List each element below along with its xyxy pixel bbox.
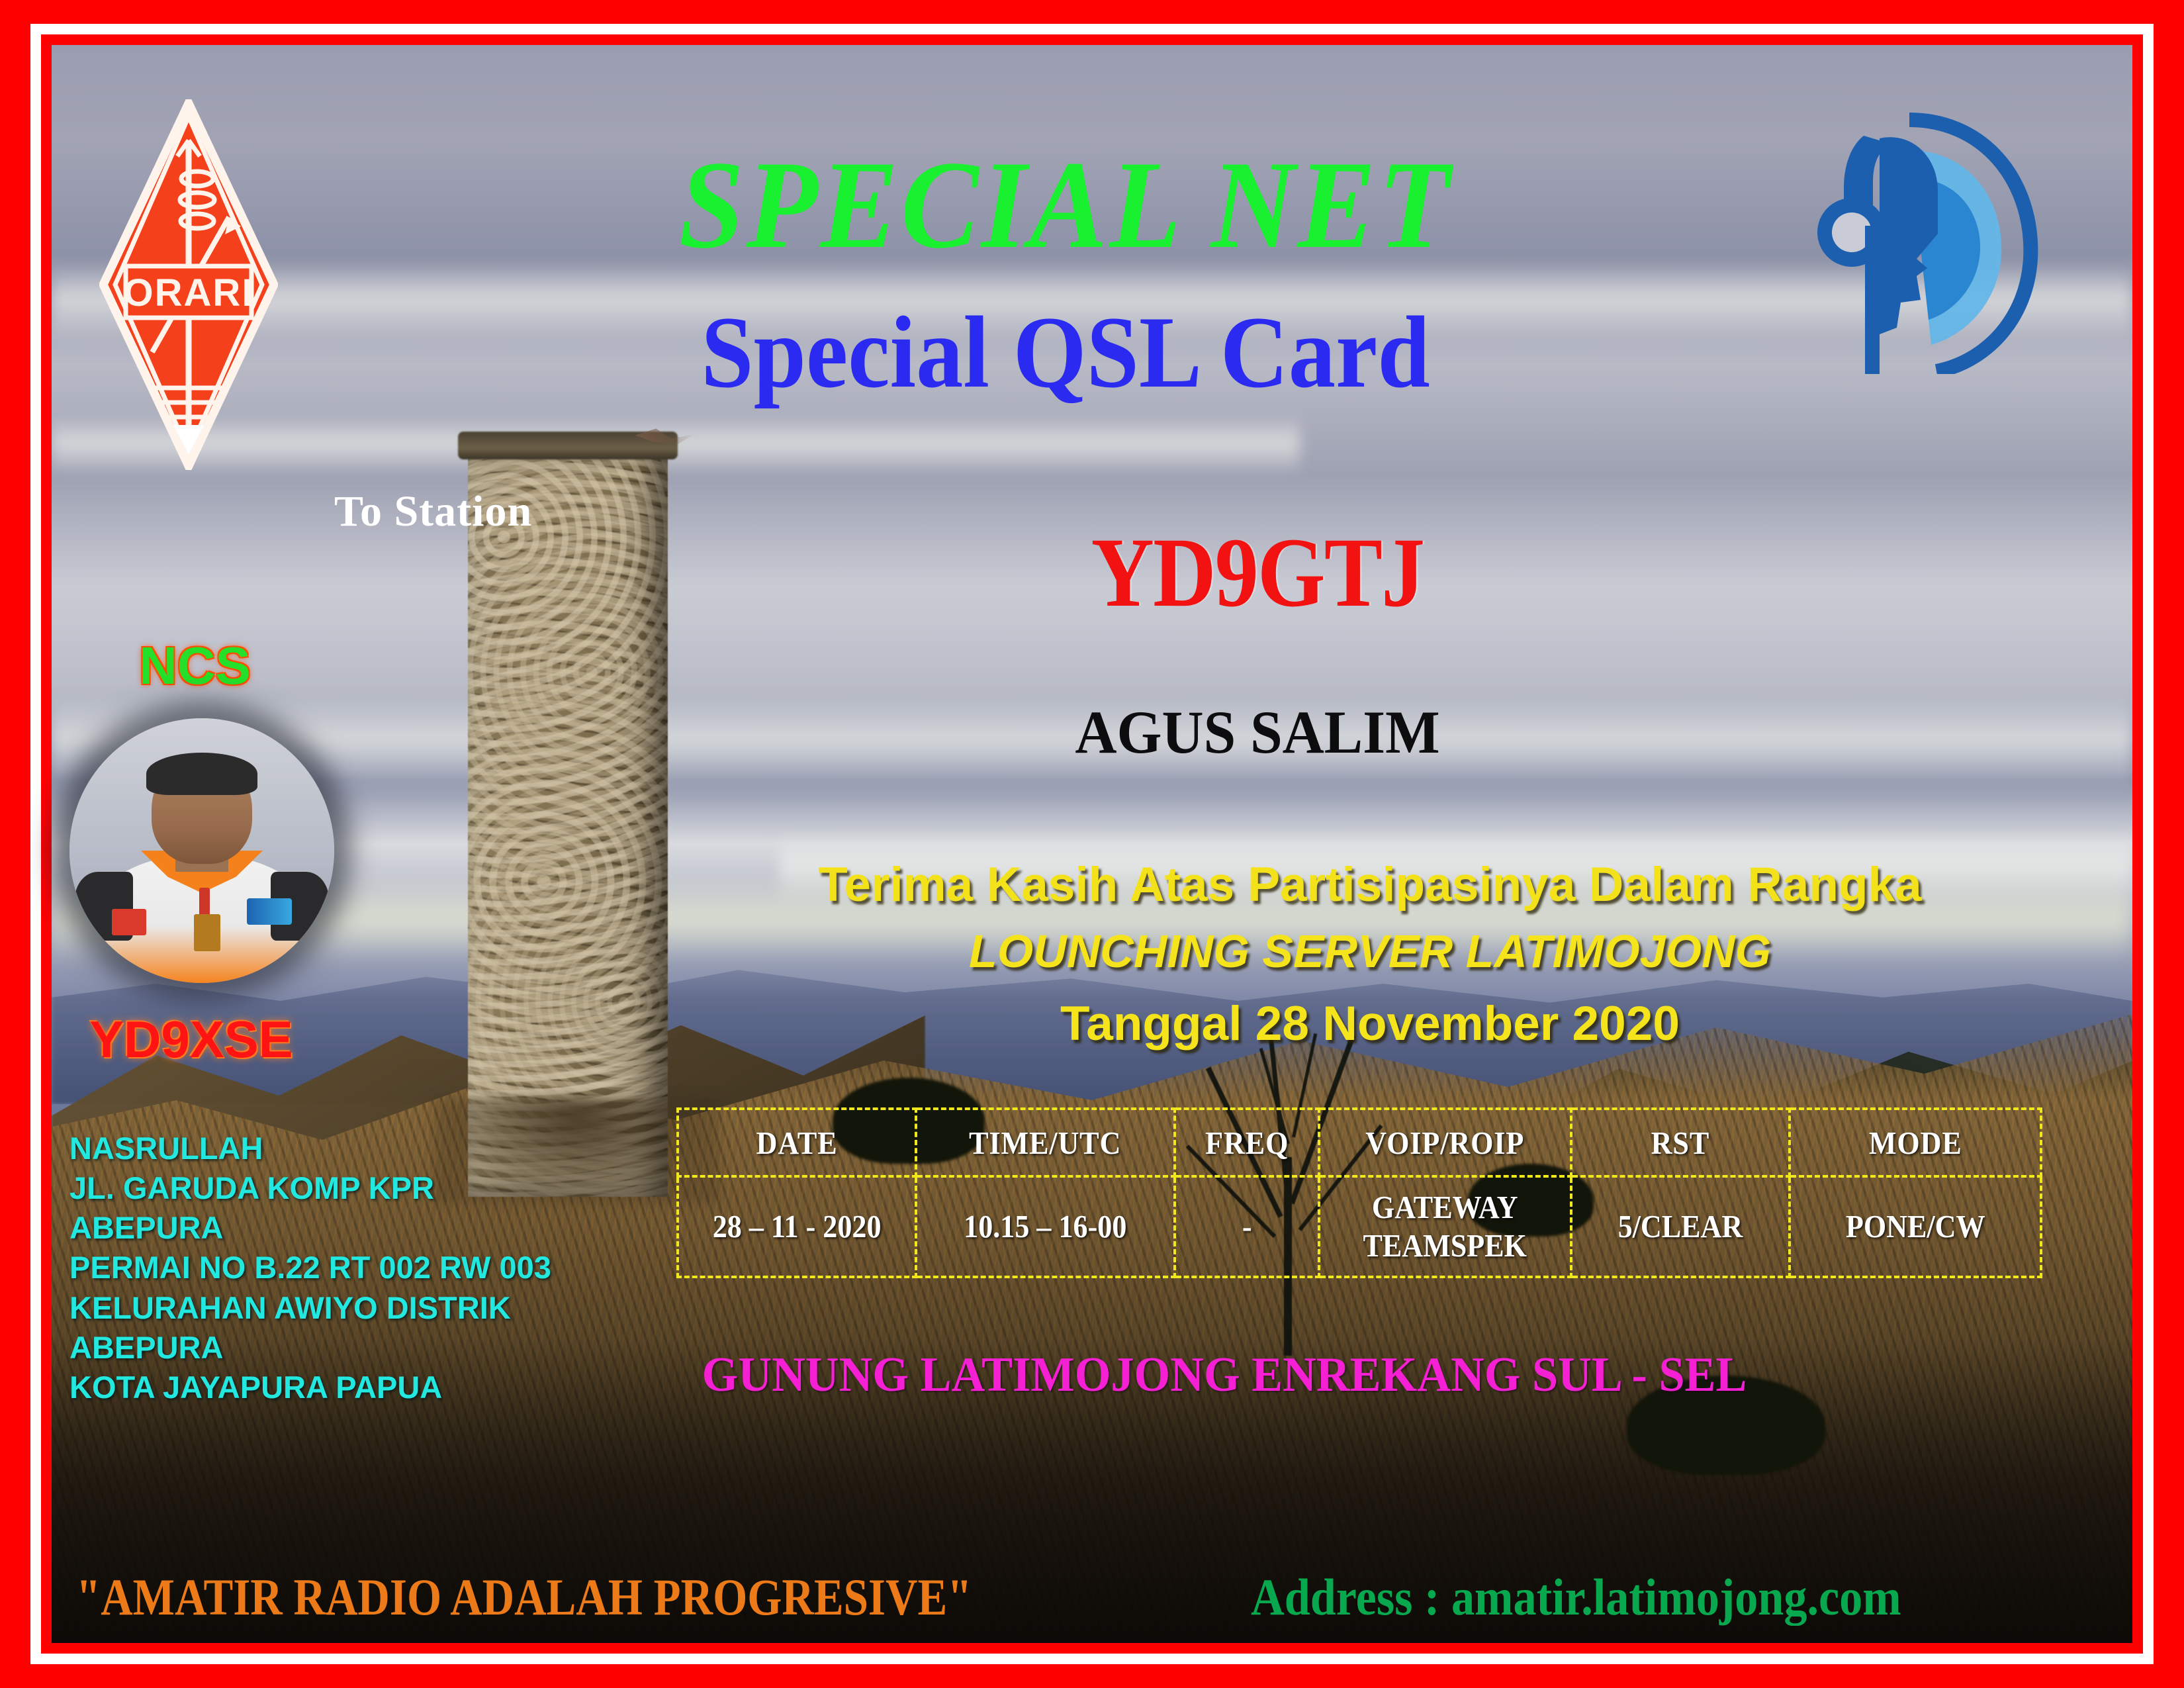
ncs-label: NCS (139, 635, 251, 696)
cell-rst: 5/CLEAR (1582, 1176, 1778, 1277)
column-header-mode: MODE (1802, 1109, 2028, 1176)
event-date: Tanggal 28 November 2020 (702, 1000, 2038, 1048)
ncs-callsign: YD9XSE (89, 1009, 293, 1070)
headphone-radio-face-icon (1780, 109, 2058, 374)
card-content-layer: ORARI SPECIAL NET Special QSL Card To St… (0, 0, 2184, 1688)
recipient-callsign: YD9GTJ (978, 523, 1537, 622)
orari-logo: ORARI (99, 99, 278, 470)
table-row: 28 – 11 - 2020 10.15 – 16-00 - GATEWAY T… (678, 1176, 2041, 1277)
address-line: ABEPURA (69, 1208, 551, 1248)
page-subtitle-qsl-card: Special QSL Card (487, 301, 1644, 404)
qso-log-table: DATE TIME/UTC FREQ VOIP/ROIP RST MODE 28… (676, 1107, 2042, 1278)
column-header-date: DATE (690, 1109, 904, 1176)
ncs-operator-photo (69, 718, 334, 983)
column-header-freq: FREQ (1182, 1109, 1312, 1176)
mailing-address: NASRULLAH JL. GARUDA KOMP KPR ABEPURA PE… (69, 1129, 551, 1407)
address-line: KELURAHAN AWIYO DISTRIK (69, 1288, 551, 1328)
motto-text: "AMATIR RADIO ADALAH PROGRESIVE" (76, 1568, 972, 1627)
thanks-line: Terima Kasih Atas Partisipasinya Dalam R… (702, 861, 2038, 909)
column-header-voip-roip: VOIP/ROIP (1332, 1109, 1558, 1176)
column-header-time: TIME/UTC (929, 1109, 1162, 1176)
qsl-card: ORARI SPECIAL NET Special QSL Card To St… (0, 0, 2184, 1688)
address-line: NASRULLAH (69, 1129, 551, 1168)
to-station-label: To Station (334, 487, 532, 537)
address-line: JL. GARUDA KOMP KPR (69, 1168, 551, 1208)
table-header-row: DATE TIME/UTC FREQ VOIP/ROIP RST MODE (678, 1109, 2041, 1176)
address-line: PERMAI NO B.22 RT 002 RW 003 (69, 1248, 551, 1288)
address-line: KOTA JAYAPURA PAPUA (69, 1368, 551, 1407)
operator-name: AGUS SALIM (956, 702, 1559, 763)
page-title-special-net: SPECIAL NET (481, 142, 1651, 268)
cell-mode: PONE/CW (1802, 1176, 2028, 1277)
location-line: GUNUNG LATIMOJONG ENREKANG SUL - SEL (627, 1350, 1822, 1399)
cell-date: 28 – 11 - 2020 (690, 1176, 904, 1277)
address-line: ABEPURA (69, 1328, 551, 1368)
cell-voip-roip: GATEWAY TEAMSPEK (1332, 1176, 1558, 1277)
cell-time: 10.15 – 16-00 (929, 1176, 1162, 1277)
web-address: Address : amatir.latimojong.com (1251, 1568, 1901, 1627)
svg-text:ORARI: ORARI (124, 271, 254, 314)
event-occasion: LOUNCHING SERVER LATIMOJONG (702, 928, 2038, 974)
cell-freq: - (1182, 1176, 1312, 1277)
column-header-rst: RST (1582, 1109, 1778, 1176)
